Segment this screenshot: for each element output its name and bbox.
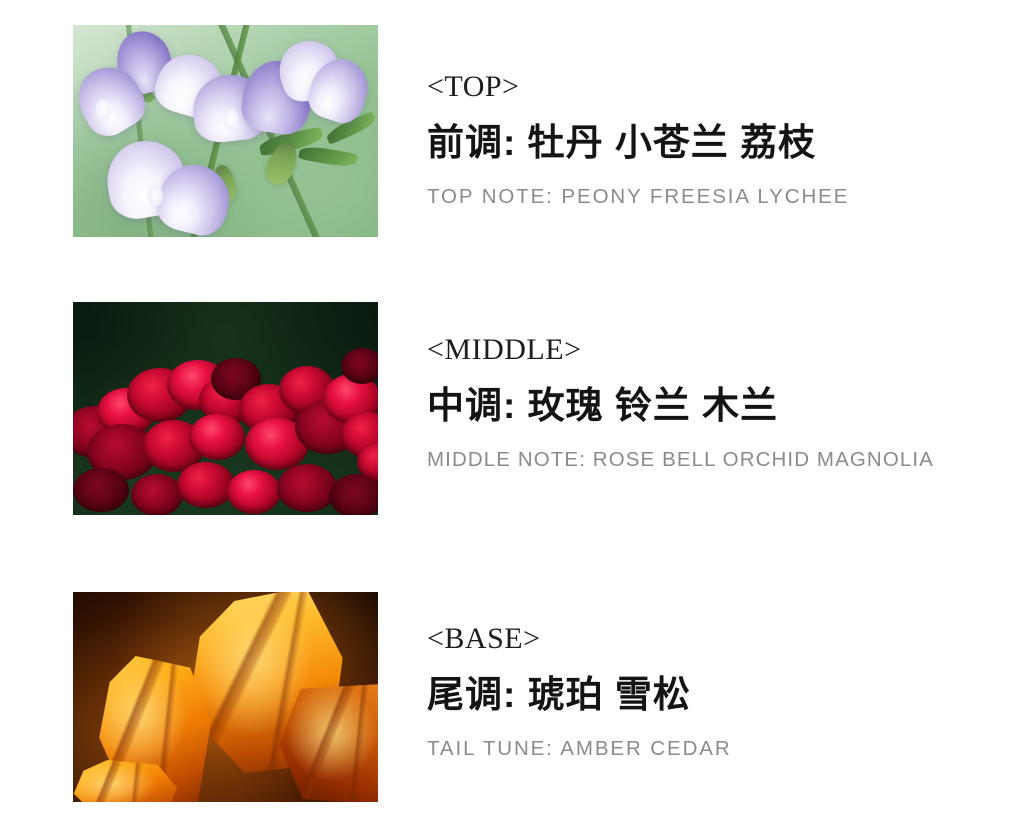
middle-note-label: <MIDDLE>	[427, 335, 1007, 365]
rose-bloom	[227, 470, 281, 514]
note-row-top: <TOP> 前调: 牡丹 小苍兰 荔枝 TOP NOTE: PEONY FREE…	[0, 25, 1024, 237]
rose-bloom	[131, 474, 183, 515]
top-note-cjk-text: 前调: 牡丹 小苍兰 荔枝	[427, 124, 1007, 161]
note-row-middle: <MIDDLE> 中调: 玫瑰 铃兰 木兰 MIDDLE NOTE: ROSE …	[0, 302, 1024, 515]
rose-bloom	[341, 348, 378, 384]
base-note-label: <BASE>	[427, 624, 1007, 654]
note-row-base: <BASE> 尾调: 琥珀 雪松 TAIL TUNE: AMBER CEDAR	[0, 592, 1024, 802]
middle-note-cjk-text: 中调: 玫瑰 铃兰 木兰	[427, 387, 1007, 424]
top-note-label: <TOP>	[427, 72, 1007, 102]
middle-note-latin-text: MIDDLE NOTE: ROSE BELL ORCHID MAGNOLIA	[427, 450, 1007, 471]
amber-stones-photo	[73, 592, 378, 802]
rose-bloom	[177, 462, 235, 508]
top-note-text-block: <TOP> 前调: 牡丹 小苍兰 荔枝 TOP NOTE: PEONY FREE…	[427, 25, 1007, 208]
rose-bloom	[277, 464, 337, 512]
top-note-latin-text: TOP NOTE: PEONY FREESIA LYCHEE	[427, 187, 1007, 208]
flower-throat	[147, 185, 163, 207]
base-note-text-block: <BASE> 尾调: 琥珀 雪松 TAIL TUNE: AMBER CEDAR	[427, 592, 1007, 760]
middle-note-text-block: <MIDDLE> 中调: 玫瑰 铃兰 木兰 MIDDLE NOTE: ROSE …	[427, 302, 1007, 471]
freesia-flowers-photo	[73, 25, 378, 237]
red-roses-photo	[73, 302, 378, 515]
rose-bloom	[73, 468, 129, 512]
flower-throat	[95, 99, 111, 121]
rose-bloom	[189, 414, 245, 460]
fragrance-notes-page: <TOP> 前调: 牡丹 小苍兰 荔枝 TOP NOTE: PEONY FREE…	[0, 0, 1024, 832]
base-note-latin-text: TAIL TUNE: AMBER CEDAR	[427, 739, 1007, 760]
flower-throat	[223, 109, 239, 131]
base-note-cjk-text: 尾调: 琥珀 雪松	[427, 676, 1007, 713]
